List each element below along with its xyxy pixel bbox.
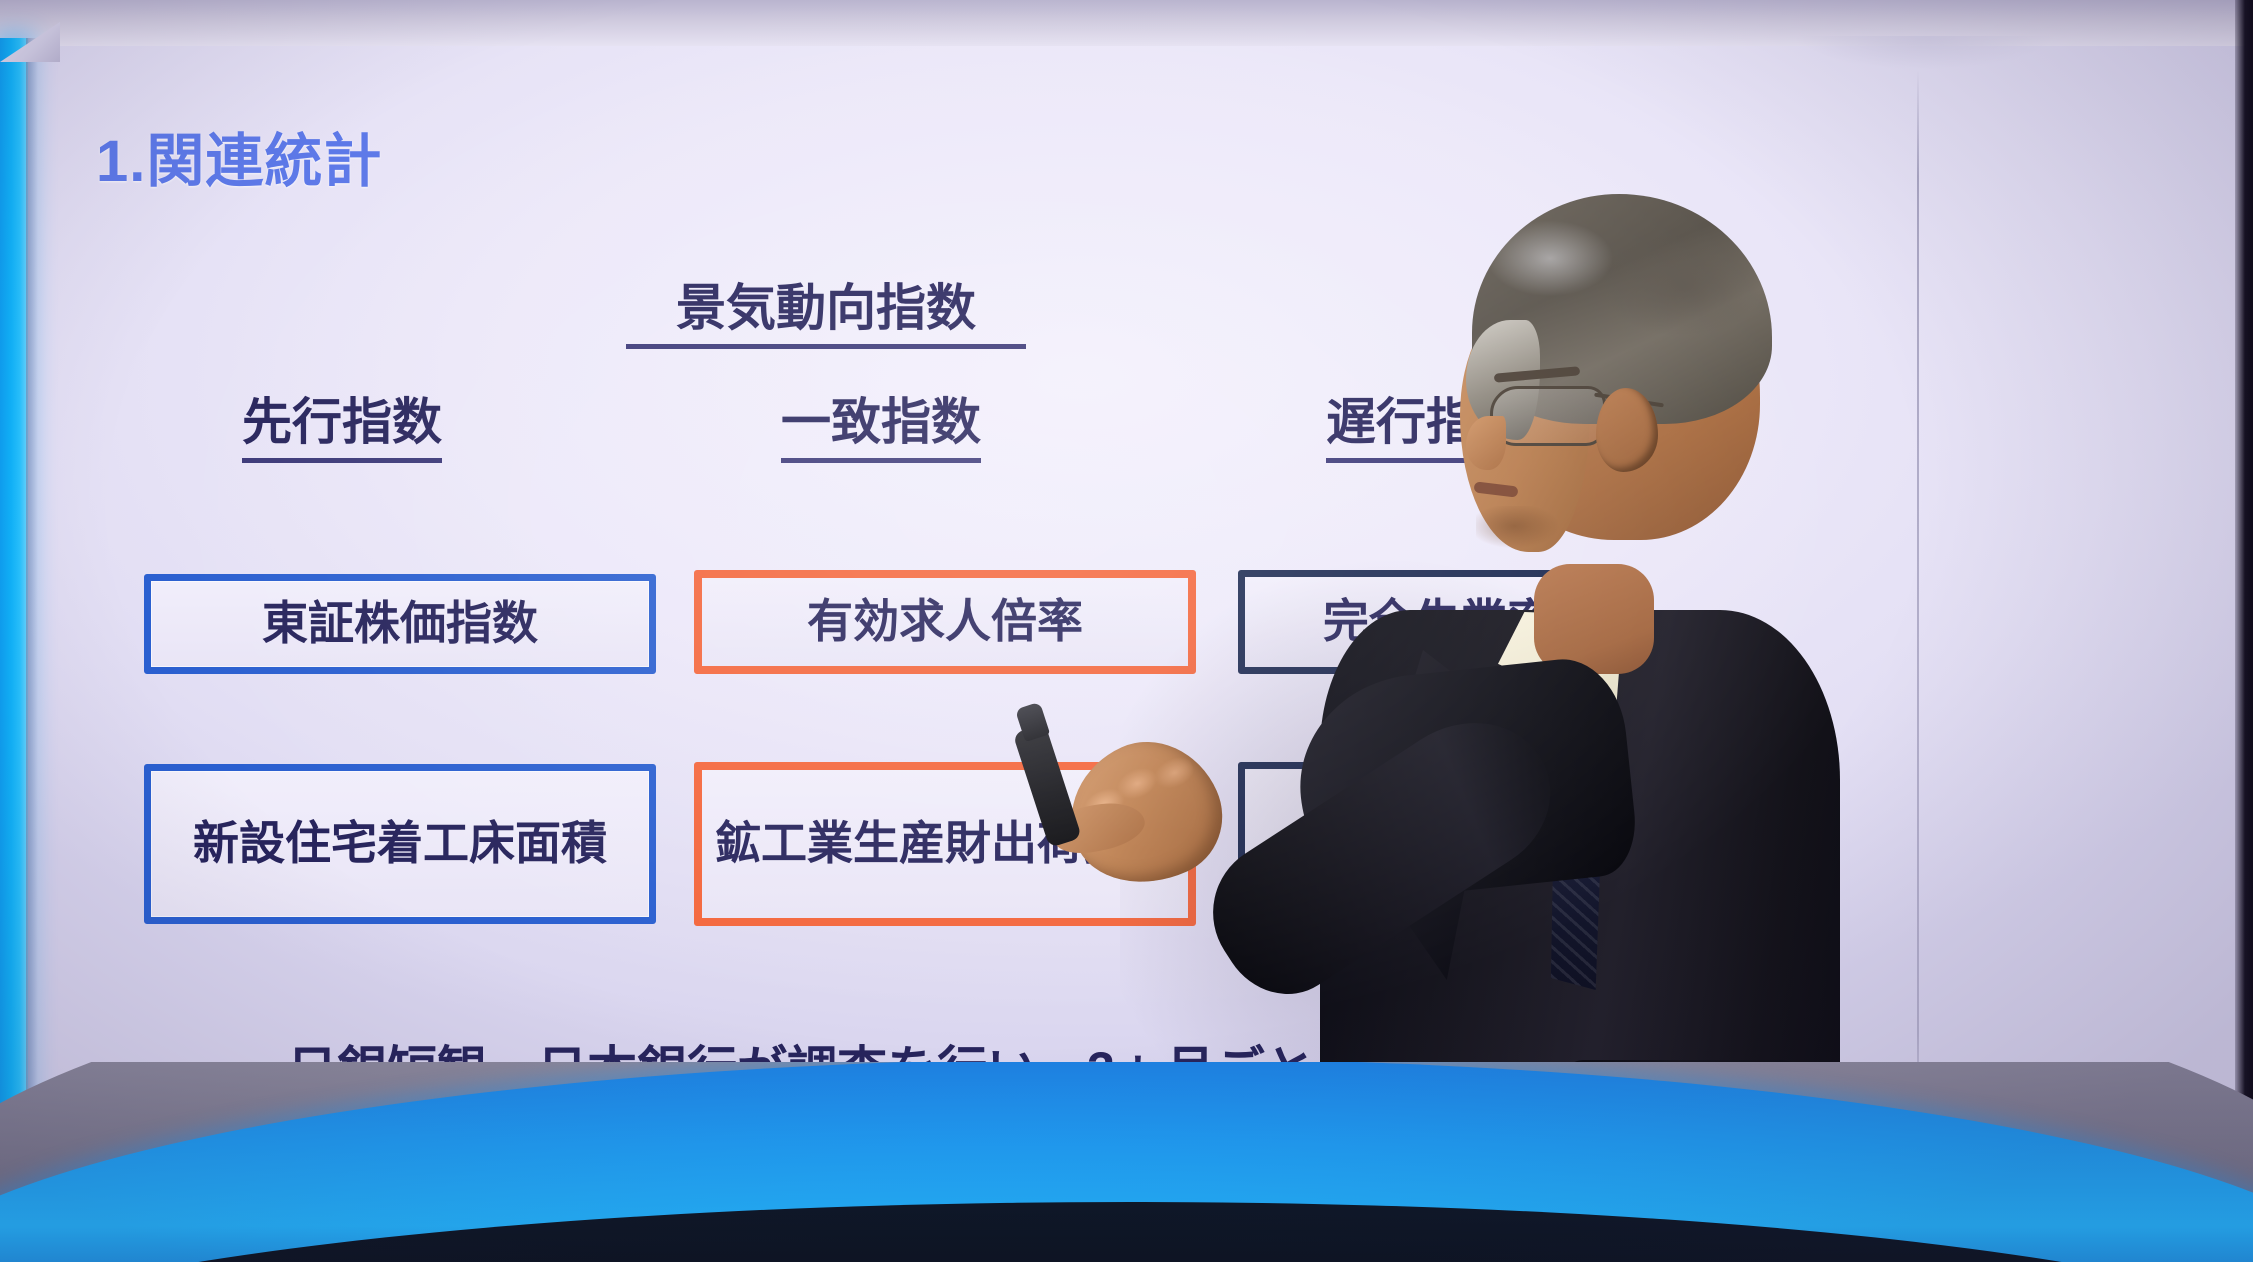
frame-vignette [0, 0, 2253, 1262]
video-frame: 1.関連統計 景気動向指数 先行指数 一致指数 遅行指数 東証株価指数 有効求人… [0, 0, 2253, 1262]
